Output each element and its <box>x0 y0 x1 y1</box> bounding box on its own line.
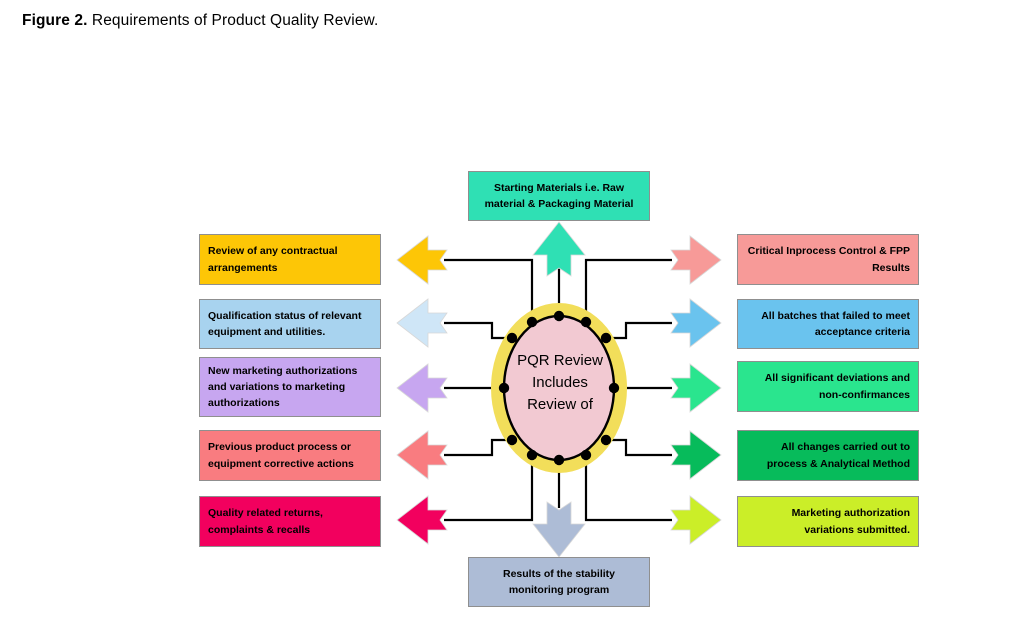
arrow-right-1 <box>671 236 721 284</box>
connector-left-1 <box>444 260 532 322</box>
node-left-2[interactable]: Qualification status of relevant equipme… <box>199 299 381 349</box>
node-left-3[interactable]: New marketing authorizations and variati… <box>199 357 381 417</box>
arrow-left-1 <box>397 236 447 284</box>
left-arrows <box>397 236 447 544</box>
arrow-right-3 <box>671 364 721 412</box>
node-right-3-label: All significant deviations and non-confi… <box>746 370 910 403</box>
arrow-up <box>533 222 585 276</box>
node-left-3-label: New marketing authorizations and variati… <box>208 363 372 412</box>
connector-left-4 <box>444 440 512 455</box>
node-right-4[interactable]: All changes carried out to process & Ana… <box>737 430 919 481</box>
connector-left-5 <box>444 455 532 520</box>
arrow-right-5 <box>671 496 721 544</box>
node-right-2-label: All batches that failed to meet acceptan… <box>746 308 910 341</box>
connector-left-2 <box>444 323 512 338</box>
node-left-1-label: Review of any contractual arrangements <box>208 243 372 276</box>
node-right-1[interactable]: Critical Inprocess Control & FPP Results <box>737 234 919 285</box>
right-arrows <box>671 236 721 544</box>
arrow-right-2 <box>671 299 721 347</box>
node-left-4[interactable]: Previous product process or equipment co… <box>199 430 381 481</box>
arrow-down <box>533 502 585 557</box>
node-top-label: Starting Materials i.e. Raw material & P… <box>477 180 641 213</box>
node-right-5[interactable]: Marketing authorization variations submi… <box>737 496 919 547</box>
center-oval-inner <box>504 316 614 460</box>
node-top[interactable]: Starting Materials i.e. Raw material & P… <box>468 171 650 221</box>
connector-right-1 <box>586 260 672 322</box>
node-left-2-label: Qualification status of relevant equipme… <box>208 308 372 341</box>
center-oval-group <box>491 303 627 473</box>
arrow-left-2 <box>397 299 447 347</box>
node-left-5[interactable]: Quality related returns, complaints & re… <box>199 496 381 547</box>
node-right-5-label: Marketing authorization variations submi… <box>746 505 910 538</box>
node-right-4-label: All changes carried out to process & Ana… <box>746 439 910 472</box>
node-bottom[interactable]: Results of the stability monitoring prog… <box>468 557 650 607</box>
node-bottom-label: Results of the stability monitoring prog… <box>477 566 641 599</box>
connector-right-4 <box>606 440 672 455</box>
connector-right-5 <box>586 455 672 520</box>
arrow-left-4 <box>397 431 447 479</box>
arrow-right-4 <box>671 431 721 479</box>
node-right-1-label: Critical Inprocess Control & FPP Results <box>746 243 910 276</box>
arrow-left-3 <box>397 364 447 412</box>
node-left-1[interactable]: Review of any contractual arrangements <box>199 234 381 285</box>
node-right-3[interactable]: All significant deviations and non-confi… <box>737 361 919 412</box>
node-left-4-label: Previous product process or equipment co… <box>208 439 372 472</box>
connector-right-2 <box>606 323 672 338</box>
arrow-left-5 <box>397 496 447 544</box>
node-right-2[interactable]: All batches that failed to meet acceptan… <box>737 299 919 349</box>
node-left-5-label: Quality related returns, complaints & re… <box>208 505 372 538</box>
